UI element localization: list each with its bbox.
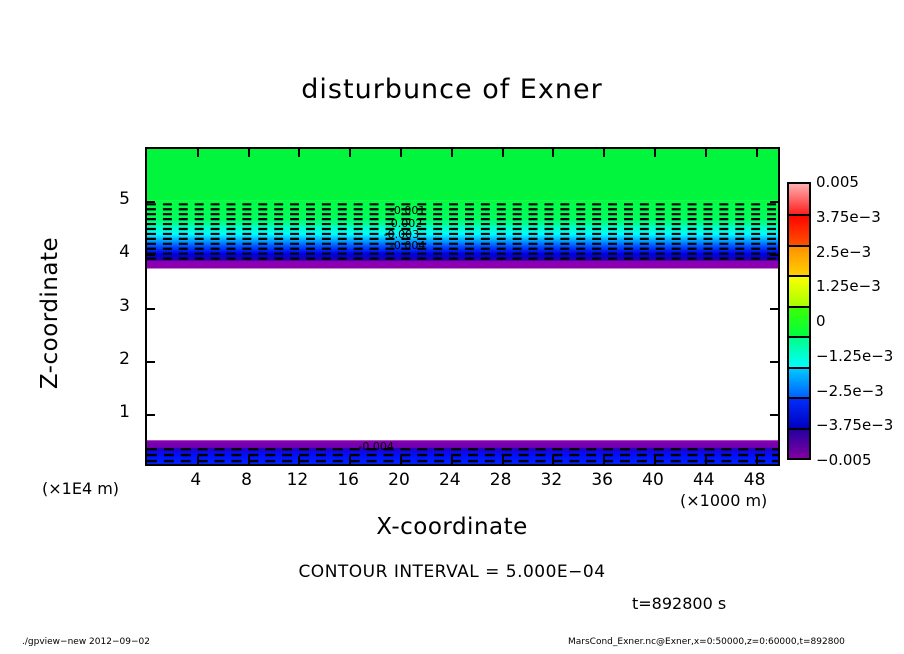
colorbar-band [789,428,809,458]
x-tick-label: 16 [328,470,368,490]
y-tick-mark [770,254,778,256]
x-tick-label: 4 [176,470,216,490]
x-tick-mark [654,149,656,157]
colorbar-tick-label: 1.25e−3 [816,277,881,295]
colorbar-band-divider [789,336,809,338]
y-tick-mark [147,361,155,363]
colorbar-tick-label: −3.75e−3 [816,416,893,434]
x-tick-mark [705,149,707,157]
x-tick-label: 8 [227,470,267,490]
y-axis-title: Z-coordinate [37,203,63,423]
colorbar-band-divider [789,306,809,308]
x-tick-mark [756,149,758,157]
x-tick-mark [197,456,199,464]
x-tick-mark [756,456,758,464]
colorbar-band-divider [789,428,809,430]
y-tick-mark [770,308,778,310]
y-tick-label: 4 [104,242,130,262]
colorbar-band [789,336,809,366]
x-tick-mark [552,456,554,464]
y-tick-mark [147,308,155,310]
colorbar-tick-label: −2.5e−3 [816,382,884,400]
time-stamp-label: t=892800 s [632,594,726,613]
x-tick-mark [654,456,656,464]
x-tick-mark [349,149,351,157]
footer-command-label: ./gpview−new 2012−09−02 [22,637,150,647]
colorbar-band [789,397,809,427]
y-tick-label: 5 [104,189,130,209]
colorbar-band-divider [789,214,809,216]
colorbar-band [789,306,809,336]
x-tick-mark [502,149,504,157]
y-tick-mark [770,414,778,416]
x-tick-mark [400,149,402,157]
colorbar-tick-label: 3.75e−3 [816,208,881,226]
colorbar-band [789,184,809,214]
contour-value-label: -0.001 [390,204,425,217]
contour-interval-caption: CONTOUR INTERVAL = 5.000E−04 [0,562,904,582]
x-tick-mark [349,456,351,464]
x-tick-mark [248,456,250,464]
x-tick-label: 12 [277,470,317,490]
colorbar-band [789,367,809,397]
x-tick-mark [400,456,402,464]
colorbar-band-divider [789,367,809,369]
y-tick-label: 1 [104,402,130,422]
x-tick-mark [451,456,453,464]
y-axis-unit-label: (×1E4 m) [42,479,119,498]
y-tick-mark [770,361,778,363]
x-tick-label: 40 [633,470,673,490]
x-tick-label: 20 [379,470,419,490]
colorbar-tick-label: 0.005 [816,173,859,191]
x-tick-mark [502,456,504,464]
y-tick-mark [147,201,155,203]
x-tick-mark [197,149,199,157]
x-axis-unit-label: (×1000 m) [680,491,767,510]
x-tick-label: 24 [430,470,470,490]
y-tick-mark [147,254,155,256]
colorbar-band [789,245,809,275]
x-tick-mark [298,149,300,157]
x-tick-mark [603,149,605,157]
colorbar-band [789,214,809,244]
x-tick-mark [552,149,554,157]
colorbar-tick-label: 0 [816,312,826,330]
contour-field [147,149,778,464]
x-tick-label: 32 [531,470,571,490]
colorbar-band-divider [789,397,809,399]
footer-dataset-label: MarsCond_Exner.nc@Exner,x=0:50000,z=0:60… [568,637,845,647]
y-tick-label: 2 [104,349,130,369]
y-tick-mark [770,201,778,203]
x-tick-label: 48 [735,470,775,490]
y-tick-mark [147,414,155,416]
x-tick-label: 44 [684,470,724,490]
page-title: disturbunce of Exner [0,74,904,105]
plot-area[interactable]: -0.001-0.002-0.003-0.004-0.004 [145,147,780,466]
y-tick-label: 3 [104,296,130,316]
colorbar[interactable] [787,182,811,460]
colorbar-band-divider [789,245,809,247]
colorbar-band [789,275,809,305]
x-axis-title: X-coordinate [0,514,904,540]
x-tick-mark [705,456,707,464]
x-tick-label: 28 [481,470,521,490]
contour-value-label: -0.004 [358,440,393,453]
colorbar-tick-label: −0.005 [816,451,872,469]
colorbar-tick-label: 2.5e−3 [816,243,871,261]
x-tick-mark [298,456,300,464]
colorbar-tick-label: −1.25e−3 [816,347,893,365]
contour-value-label: -0.004 [390,239,425,252]
x-tick-mark [451,149,453,157]
colorbar-band-divider [789,275,809,277]
x-tick-mark [603,456,605,464]
x-tick-label: 36 [582,470,622,490]
x-tick-mark [248,149,250,157]
